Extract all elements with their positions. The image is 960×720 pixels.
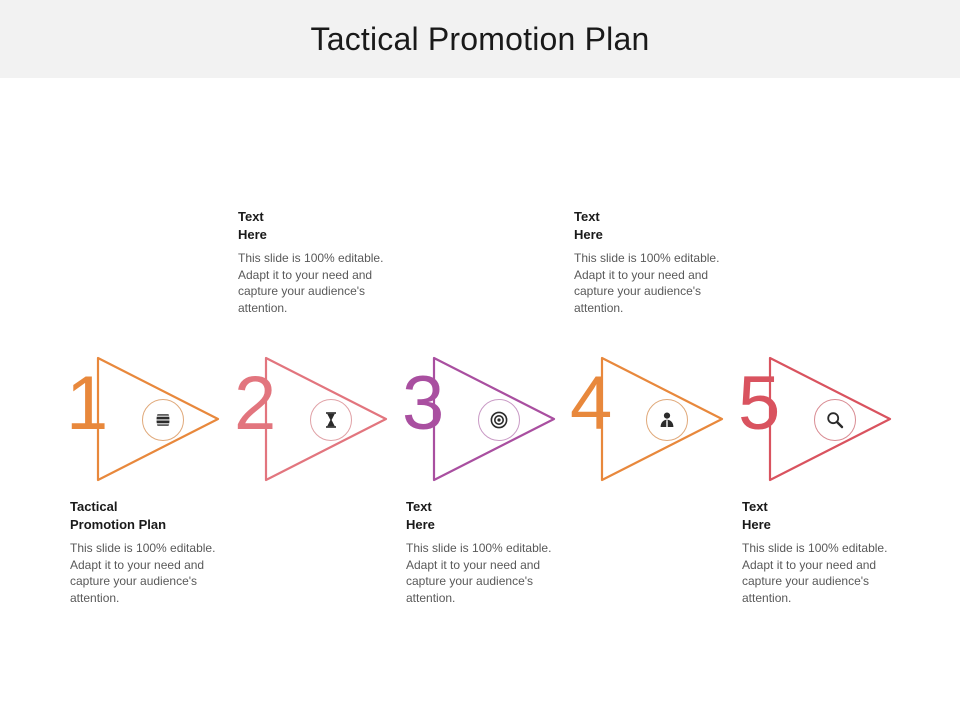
slide-title-bar: Tactical Promotion Plan — [0, 0, 960, 78]
step-4-number: 4 — [570, 366, 612, 442]
step-1[interactable]: Tactical Promotion Plan This slide is 10… — [60, 208, 235, 628]
step-5-heading: Text Here — [742, 498, 902, 534]
step-4-heading: Text Here — [574, 208, 734, 244]
step-4[interactable]: Text Here This slide is 100% editable. A… — [564, 208, 739, 628]
step-2-heading: Text Here — [238, 208, 398, 244]
step-3-text: Text Here This slide is 100% editable. A… — [406, 498, 566, 606]
step-2-number: 2 — [234, 366, 276, 442]
step-3-body: This slide is 100% editable. Adapt it to… — [406, 540, 566, 606]
step-5-body: This slide is 100% editable. Adapt it to… — [742, 540, 902, 606]
magnifier-icon — [825, 410, 845, 430]
step-3-number: 3 — [402, 366, 444, 442]
step-4-body: This slide is 100% editable. Adapt it to… — [574, 250, 734, 316]
person-icon — [657, 410, 677, 430]
step-2-icon-badge — [310, 399, 352, 441]
target-icon — [489, 410, 509, 430]
page-title: Tactical Promotion Plan — [311, 21, 650, 58]
hourglass-icon — [321, 410, 341, 430]
step-3-icon-badge — [478, 399, 520, 441]
step-1-text: Tactical Promotion Plan This slide is 10… — [70, 498, 230, 606]
step-4-icon-badge — [646, 399, 688, 441]
step-2-arrow: 2 — [228, 348, 403, 498]
step-5-number: 5 — [738, 366, 780, 442]
step-3-heading: Text Here — [406, 498, 566, 534]
step-1-body: This slide is 100% editable. Adapt it to… — [70, 540, 230, 606]
barrel-icon — [153, 410, 173, 430]
step-1-number: 1 — [66, 366, 108, 442]
step-3[interactable]: Text Here This slide is 100% editable. A… — [396, 208, 571, 628]
step-4-arrow: 4 — [564, 348, 739, 498]
step-5-text: Text Here This slide is 100% editable. A… — [742, 498, 902, 606]
slide-canvas: Tactical Promotion Plan This slide is 10… — [0, 78, 960, 720]
steps-container: Tactical Promotion Plan This slide is 10… — [60, 208, 900, 628]
step-2-body: This slide is 100% editable. Adapt it to… — [238, 250, 398, 316]
step-1-heading: Tactical Promotion Plan — [70, 498, 230, 534]
step-2-text: Text Here This slide is 100% editable. A… — [238, 208, 398, 316]
step-3-arrow: 3 — [396, 348, 571, 498]
step-5[interactable]: Text Here This slide is 100% editable. A… — [732, 208, 907, 628]
step-5-icon-badge — [814, 399, 856, 441]
step-1-icon-badge — [142, 399, 184, 441]
slide: Tactical Promotion Plan Tactical Promoti… — [0, 0, 960, 720]
step-5-arrow: 5 — [732, 348, 907, 498]
step-4-text: Text Here This slide is 100% editable. A… — [574, 208, 734, 316]
step-2[interactable]: Text Here This slide is 100% editable. A… — [228, 208, 403, 628]
step-1-arrow: 1 — [60, 348, 235, 498]
